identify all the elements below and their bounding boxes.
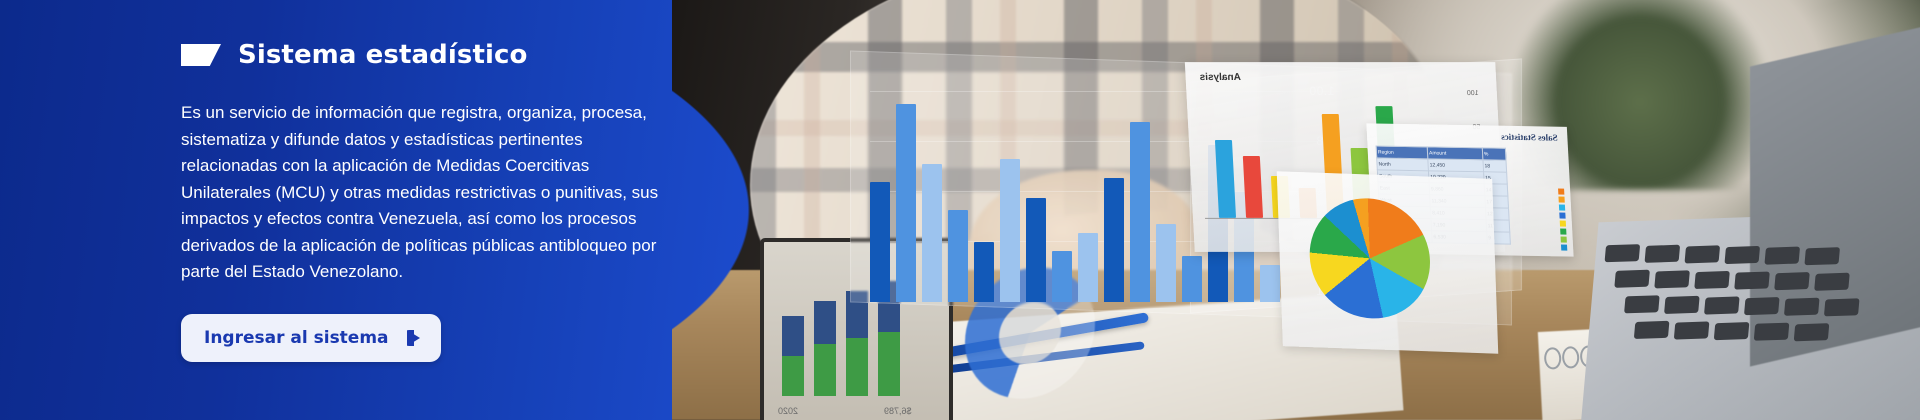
laptop-keyboard (1583, 234, 1917, 395)
banner-title-row: Sistema estadístico (181, 0, 681, 70)
page-title: Sistema estadístico (238, 40, 527, 70)
statistics-system-banner: 2020 $6,789 1.00 0.8 0.6 0.4 0.1 (0, 0, 1920, 420)
analysis-chart-title: Analysis (1199, 72, 1241, 83)
enter-system-button[interactable]: Ingresar al sistema (181, 314, 441, 362)
pie-chart (1308, 196, 1432, 320)
flag-icon (181, 44, 221, 66)
play-triangle-icon (407, 330, 420, 346)
table-legend (1558, 187, 1567, 253)
pie-chart-card (1277, 171, 1499, 353)
enter-system-label: Ingresar al sistema (204, 328, 389, 348)
banner-content: Sistema estadístico Es un servicio de in… (181, 0, 681, 420)
banner-description: Es un servicio de información que regist… (181, 100, 671, 286)
sales-statistics-title: Sales Statistics (1501, 132, 1558, 143)
